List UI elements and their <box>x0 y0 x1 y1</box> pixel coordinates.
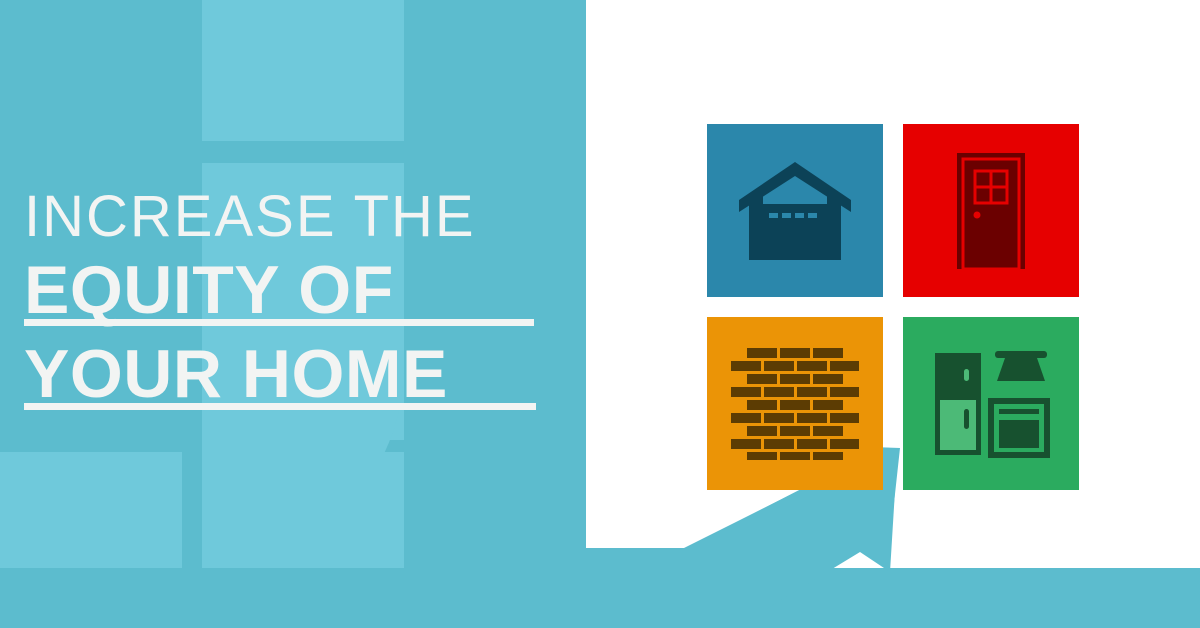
banner-canvas: INCREASE THE EQUITY OF YOUR HOME <box>0 0 1200 628</box>
watermark-block-bottom-right <box>202 452 404 568</box>
watermark-block-top <box>202 0 404 141</box>
headline-line-2: EQUITY OF <box>24 252 394 328</box>
headline-line-3: YOUR HOME <box>24 336 448 412</box>
watermark-block-bottom-left <box>0 452 182 568</box>
front-door-icon <box>951 151 1031 271</box>
tile-garage[interactable] <box>707 124 883 297</box>
headline-line-1: INCREASE THE <box>24 186 569 248</box>
headline-line-2-wrap: EQUITY OF <box>24 248 569 332</box>
brick-wall-icon <box>731 348 859 460</box>
kitchen-appliances-icon <box>931 349 1051 459</box>
headline-underline-1 <box>24 319 534 326</box>
home-improvement-icon-grid <box>707 124 1079 496</box>
tile-front-door[interactable] <box>903 124 1079 297</box>
headline-underline-2 <box>24 403 536 410</box>
tile-kitchen-appliances[interactable] <box>903 317 1079 490</box>
headline: INCREASE THE EQUITY OF YOUR HOME <box>24 186 569 416</box>
tile-brick-wall[interactable] <box>707 317 883 490</box>
headline-line-3-wrap: YOUR HOME <box>24 332 569 416</box>
garage-icon <box>735 156 855 266</box>
